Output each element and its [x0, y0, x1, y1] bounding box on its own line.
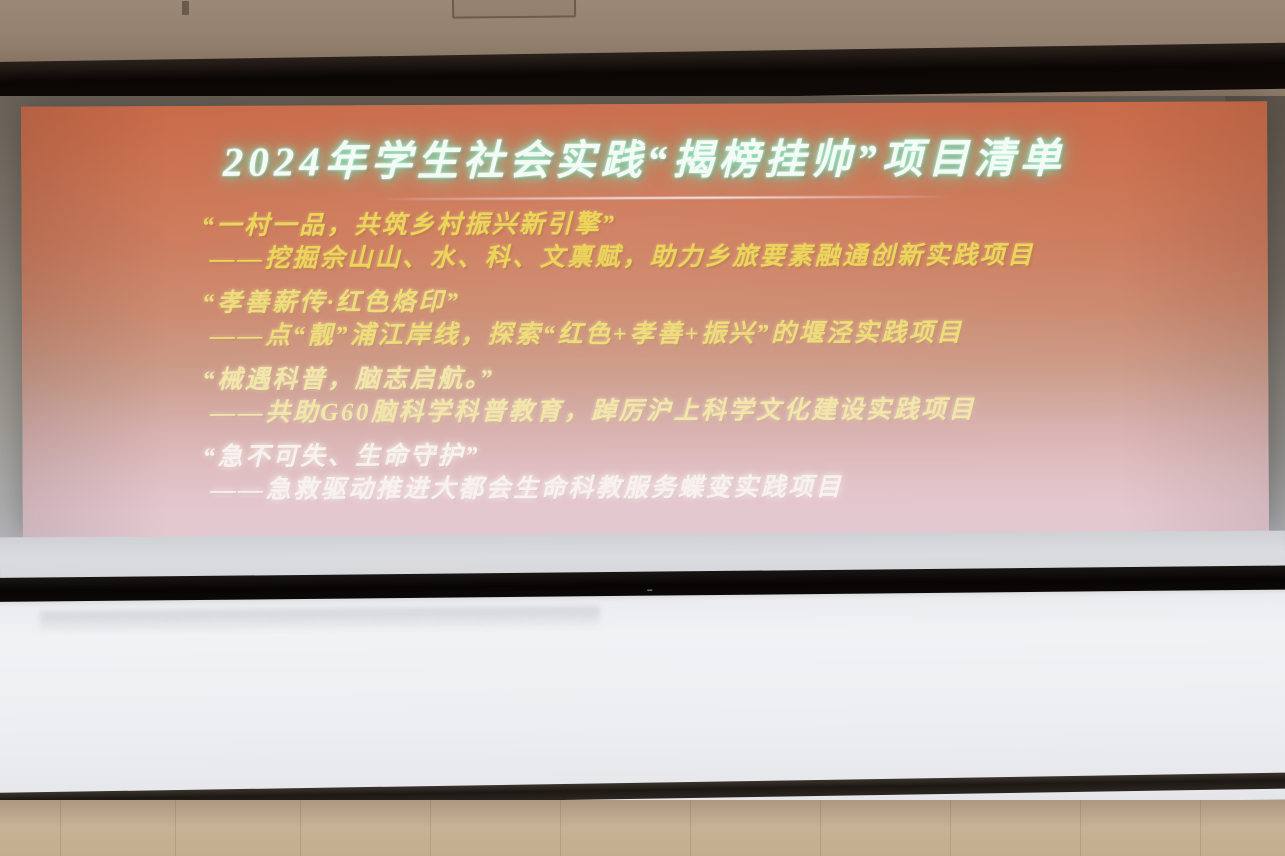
project-heading: “一村一品，共筑乡村振兴新引擎” [32, 207, 1258, 243]
slide-title: 2024年学生社会实践“揭榜挂帅”项目清单 [21, 123, 1267, 188]
projector-screen-brand-logo: ▬ [630, 586, 670, 595]
list-item: “急不可失、生命守护” ——急救驱动推进大都会生命科教服务蝶变实践项目 [33, 438, 1259, 506]
project-heading: “械遇科普，脑志启航。” [32, 361, 1258, 397]
list-item: “械遇科普，脑志启航。” ——共助G60脑科学科普教育，踔厉沪上科学文化建设实践… [32, 361, 1258, 429]
project-subtitle: ——挖掘佘山山、水、科、文禀赋，助力乡旅要素融通创新实践项目 [32, 240, 1258, 276]
list-item: “孝善薪传·红色烙印” ——点“靓”浦江岸线，探索“红色+孝善+振兴”的堰泾实践… [32, 284, 1258, 352]
projection-screen: 2024年学生社会实践“揭榜挂帅”项目清单 “一村一品，共筑乡村振兴新引擎” —… [21, 101, 1269, 538]
project-list: “一村一品，共筑乡村振兴新引擎” ——挖掘佘山山、水、科、文禀赋，助力乡旅要素融… [32, 207, 1259, 520]
list-item: “一村一品，共筑乡村振兴新引擎” ——挖掘佘山山、水、科、文禀赋，助力乡旅要素融… [32, 207, 1258, 275]
project-subtitle: ——点“靓”浦江岸线，探索“红色+孝善+振兴”的堰泾实践项目 [32, 317, 1258, 353]
project-subtitle: ——共助G60脑科学科普教育，踔厉沪上科学文化建设实践项目 [32, 394, 1258, 430]
title-divider-rule [379, 196, 951, 200]
ceiling-bracket [182, 1, 189, 15]
project-subtitle: ——急救驱动推进大都会生命科教服务蝶变实践项目 [33, 471, 1259, 507]
floor-shadow [0, 800, 1285, 856]
project-heading: “急不可失、生命守护” [33, 438, 1259, 474]
project-heading: “孝善薪传·红色烙印” [32, 284, 1258, 320]
projector-room-photo: 2024年学生社会实践“揭榜挂帅”项目清单 “一村一品，共筑乡村振兴新引擎” —… [0, 0, 1285, 856]
ceiling-access-panel [452, 0, 576, 19]
